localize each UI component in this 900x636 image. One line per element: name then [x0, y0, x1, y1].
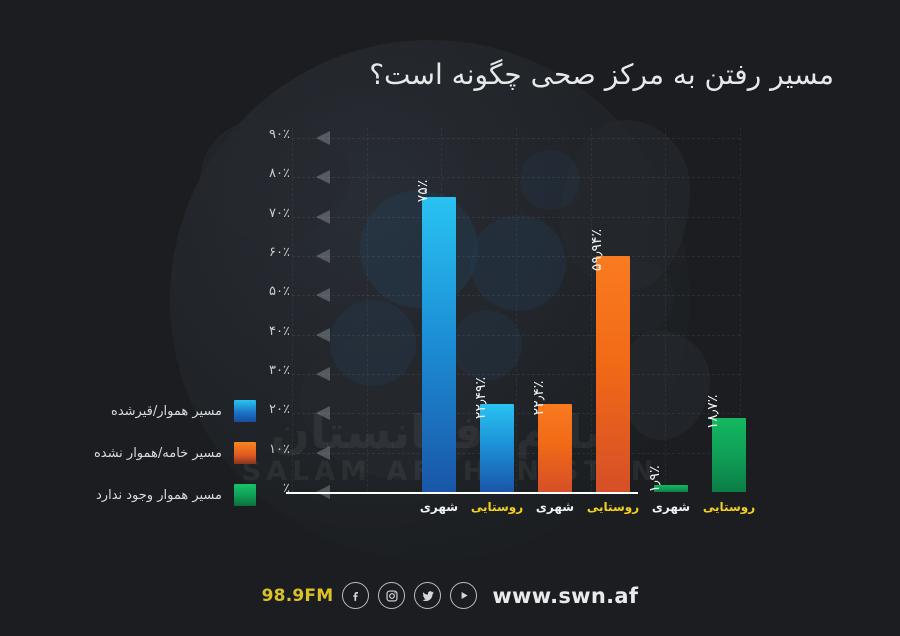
chart-legend: مسیر هموار/قیرشدهمسیر خامه/هموار نشدهمسی… [56, 400, 256, 526]
x-axis-label-2: روستایی [464, 500, 530, 514]
plot-area: ٪۱۰٪۲۰٪۳۰٪۴۰٪۵۰٪۶۰٪۷۰٪۸۰٪۹۰٪ ۷۵٪۲۲٫۴۹٪۲۲… [292, 138, 740, 492]
gridline-vertical [367, 128, 368, 492]
gridline-vertical [292, 128, 293, 492]
x-axis-label-3: شهری [522, 500, 588, 514]
y-axis-tick-label: ۱۰٪ [269, 442, 290, 457]
y-axis-tick-label: ۴۰٪ [269, 324, 290, 339]
legend-color-swatch [234, 400, 256, 422]
bar-5[interactable]: ۱٫۹٪ [654, 485, 688, 492]
x-axis-label-6: روستایی [696, 500, 762, 514]
bar-value-label: ۷۵٪ [423, 180, 439, 203]
bar-value-label: ۵۹٫۹۴٪ [597, 229, 613, 271]
y-axis-tick-label: ۶۰٪ [269, 245, 290, 260]
legend-item-1[interactable]: مسیر هموار/قیرشده [56, 400, 256, 422]
bar-chart: ٪۱۰٪۲۰٪۳۰٪۴۰٪۵۰٪۶۰٪۷۰٪۸۰٪۹۰٪ ۷۵٪۲۲٫۴۹٪۲۲… [0, 0, 900, 636]
youtube-play-icon[interactable] [450, 582, 477, 609]
x-axis-label-4: روستایی [580, 500, 646, 514]
bar-value-label: ۲۲٫۴۹٪ [481, 376, 497, 418]
bar-value-label: ۱٫۹٪ [655, 465, 671, 492]
y-axis-tick-label: ۹۰٪ [269, 127, 290, 142]
radio-frequency-label: 98.9FM [262, 586, 334, 606]
y-axis-tick-label: ۷۰٪ [269, 206, 290, 221]
gridline-vertical [591, 128, 592, 492]
y-axis-tick-label: ۲۰٪ [269, 402, 290, 417]
y-axis-tick-label: ۵۰٪ [269, 284, 290, 299]
legend-item-3[interactable]: مسیر هموار وجود ندارد [56, 484, 256, 506]
footer-bar: 98.9FM www.swn.af [0, 582, 900, 609]
y-axis-tick-label: ۸۰٪ [269, 166, 290, 181]
legend-item-2[interactable]: مسیر خامه/هموار نشده [56, 442, 256, 464]
x-axis-label-5: شهری [638, 500, 704, 514]
legend-item-label: مسیر هموار وجود ندارد [96, 488, 222, 503]
legend-color-swatch [234, 442, 256, 464]
legend-item-label: مسیر هموار/قیرشده [111, 404, 222, 419]
gridline-vertical [665, 128, 666, 492]
y-axis-tick-label: ۳۰٪ [269, 363, 290, 378]
x-axis-label-1: شهری [406, 500, 472, 514]
gridline-vertical [516, 128, 517, 492]
twitter-icon[interactable] [414, 582, 441, 609]
bar-value-label: ۲۲٫۴٪ [539, 381, 555, 416]
bar-2[interactable]: ۲۲٫۴۹٪ [480, 404, 514, 492]
bar-3[interactable]: ۲۲٫۴٪ [538, 404, 572, 492]
legend-color-swatch [234, 484, 256, 506]
bar-value-label: ۱۸٫۷٪ [713, 395, 729, 430]
legend-item-label: مسیر خامه/هموار نشده [94, 446, 222, 461]
bar-1[interactable]: ۷۵٪ [422, 197, 456, 492]
facebook-icon[interactable] [342, 582, 369, 609]
bar-4[interactable]: ۵۹٫۹۴٪ [596, 256, 630, 492]
bar-6[interactable]: ۱۸٫۷٪ [712, 418, 746, 492]
website-url: www.swn.af [492, 584, 638, 608]
x-axis-line [286, 492, 638, 494]
instagram-icon[interactable] [378, 582, 405, 609]
